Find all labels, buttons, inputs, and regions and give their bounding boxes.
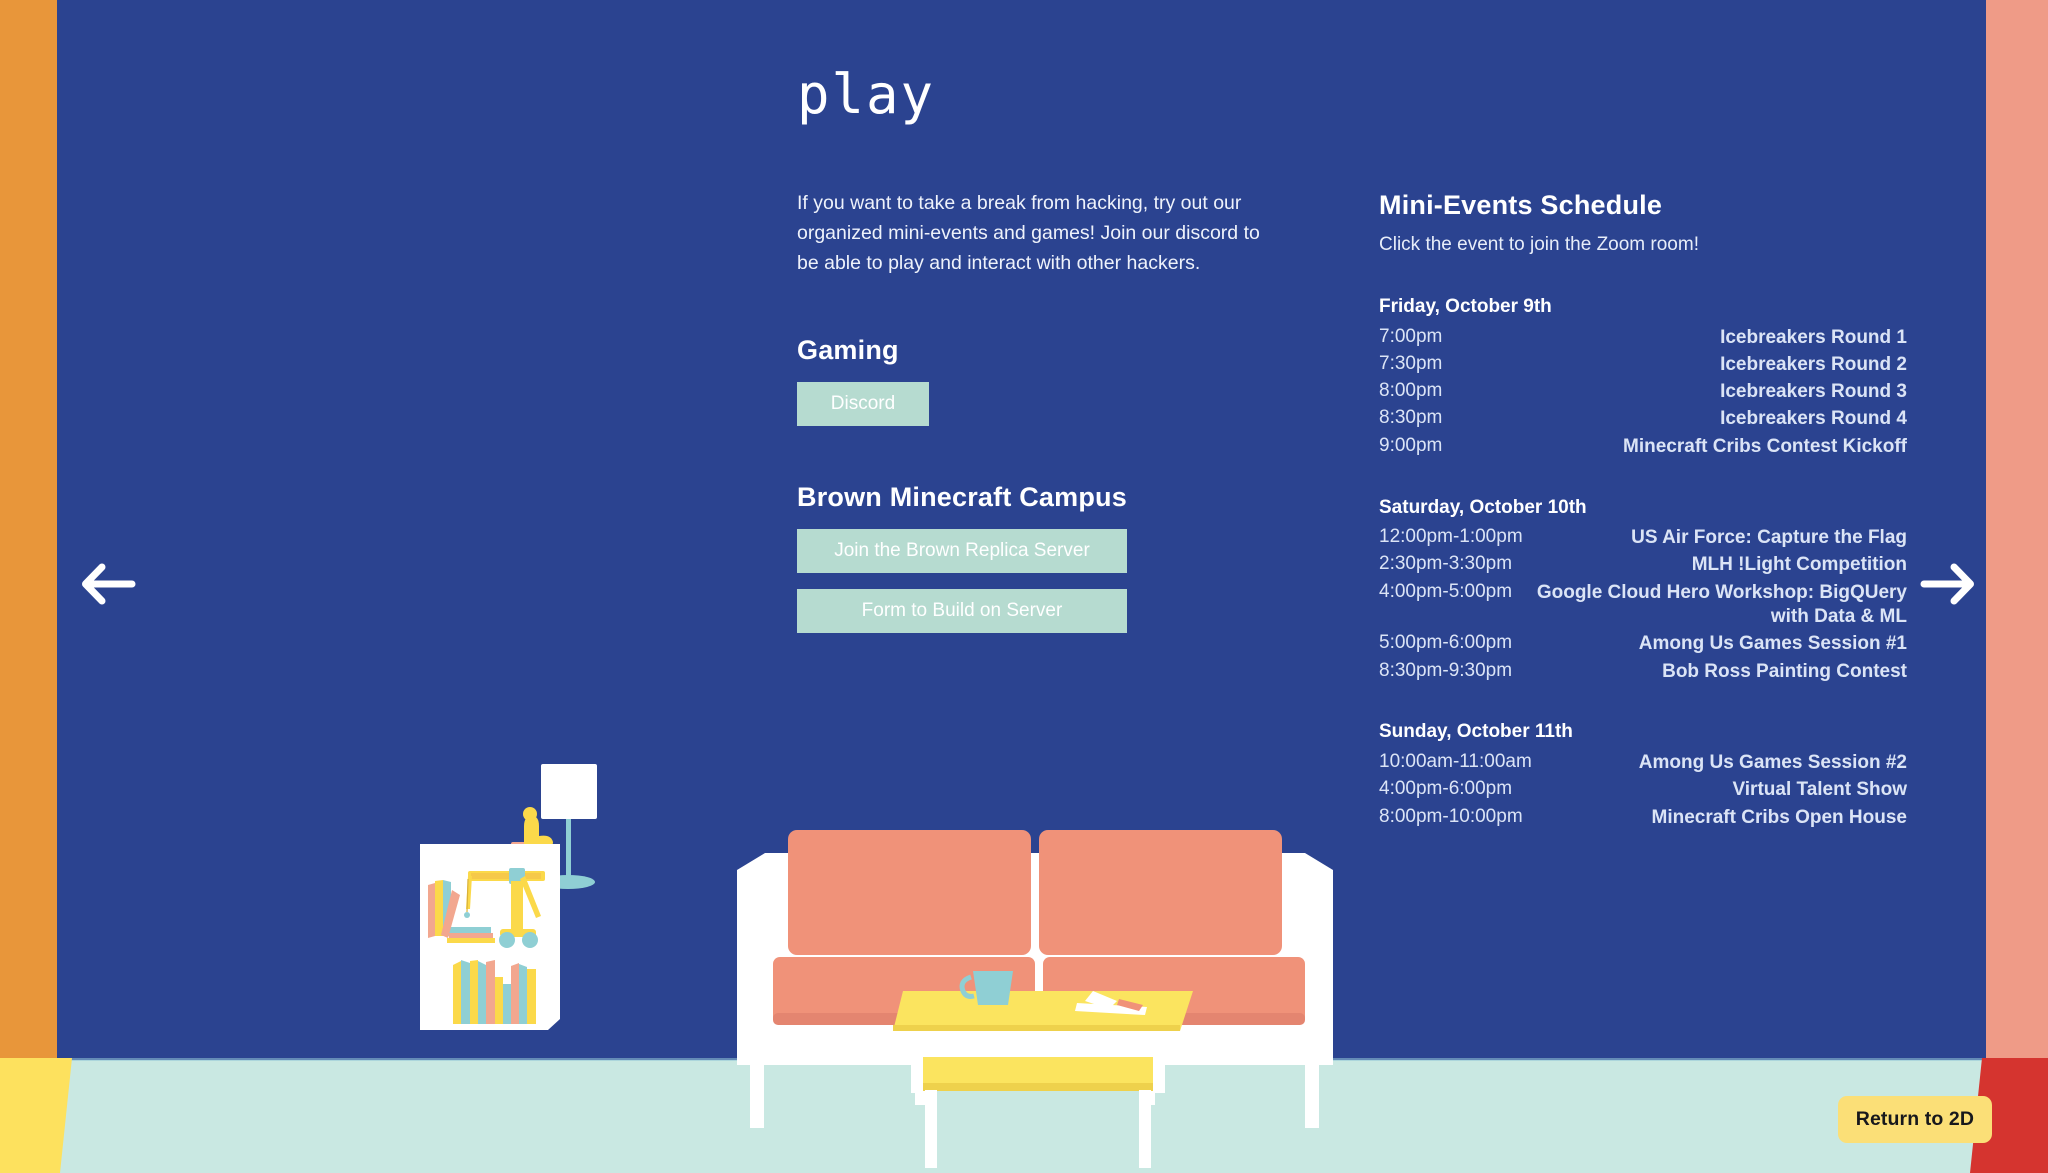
schedule-event-row[interactable]: 7:30pm Icebreakers Round 2 — [1379, 351, 1907, 378]
schedule-event-row[interactable]: 2:30pm-3:30pm MLH !Light Competition — [1379, 552, 1907, 579]
event-time: 8:30pm — [1379, 407, 1442, 429]
schedule-title: Mini-Events Schedule — [1379, 190, 1907, 221]
schedule-event-row[interactable]: 12:00pm-1:00pm US Air Force: Capture the… — [1379, 525, 1907, 552]
schedule-event-row[interactable]: 7:00pm Icebreakers Round 1 — [1379, 324, 1907, 351]
day-block-sunday: Sunday, October 11th 10:00am-11:00am Amo… — [1379, 721, 1907, 831]
schedule-event-row[interactable]: 8:30pm Icebreakers Round 4 — [1379, 406, 1907, 433]
event-name: US Air Force: Capture the Flag — [1541, 526, 1907, 550]
section-heading-gaming: Gaming — [797, 335, 1287, 366]
event-name: Google Cloud Hero Workshop: BigQUery wit… — [1530, 581, 1907, 630]
join-replica-server-button[interactable]: Join the Brown Replica Server — [797, 529, 1127, 573]
discord-button[interactable]: Discord — [797, 382, 929, 426]
schedule-event-row[interactable]: 8:30pm-9:30pm Bob Ross Painting Contest — [1379, 658, 1907, 685]
event-name: Among Us Games Session #1 — [1530, 632, 1907, 656]
event-time: 8:00pm — [1379, 380, 1442, 402]
event-time: 10:00am-11:00am — [1379, 751, 1532, 773]
return-to-2d-button[interactable]: Return to 2D — [1838, 1096, 1992, 1143]
intro-paragraph: If you want to take a break from hacking… — [797, 188, 1277, 279]
event-time: 8:00pm-10:00pm — [1379, 806, 1523, 828]
schedule-event-row[interactable]: 8:00pm-10:00pm Minecraft Cribs Open Hous… — [1379, 804, 1907, 831]
page-content: play If you want to take a break from ha… — [0, 0, 2048, 1173]
event-time: 4:00pm-6:00pm — [1379, 778, 1512, 800]
day-name: Sunday, October 11th — [1379, 721, 1907, 743]
event-time: 8:30pm-9:30pm — [1379, 660, 1512, 682]
event-name: Virtual Talent Show — [1530, 778, 1907, 802]
event-time: 9:00pm — [1379, 435, 1442, 457]
left-column: If you want to take a break from hacking… — [797, 188, 1287, 633]
event-time: 7:00pm — [1379, 326, 1442, 348]
section-heading-minecraft: Brown Minecraft Campus — [797, 482, 1287, 513]
event-name: Icebreakers Round 4 — [1460, 407, 1907, 431]
schedule-column: Mini-Events Schedule Click the event to … — [1379, 190, 1907, 831]
event-name: MLH !Light Competition — [1530, 553, 1907, 577]
arrow-right-icon — [1920, 560, 1976, 608]
next-room-arrow[interactable] — [1920, 560, 1976, 608]
day-name: Saturday, October 10th — [1379, 497, 1907, 519]
event-time: 7:30pm — [1379, 353, 1442, 375]
schedule-event-row[interactable]: 10:00am-11:00am Among Us Games Session #… — [1379, 749, 1907, 776]
event-name: Icebreakers Round 2 — [1460, 353, 1907, 377]
arrow-left-icon — [80, 560, 136, 608]
event-name: Among Us Games Session #2 — [1550, 751, 1907, 775]
day-name: Friday, October 9th — [1379, 296, 1907, 318]
schedule-event-row[interactable]: 4:00pm-6:00pm Virtual Talent Show — [1379, 777, 1907, 804]
event-name: Minecraft Cribs Open House — [1541, 806, 1907, 830]
event-name: Icebreakers Round 3 — [1460, 380, 1907, 404]
event-time: 4:00pm-5:00pm — [1379, 581, 1512, 603]
event-time: 5:00pm-6:00pm — [1379, 632, 1512, 654]
schedule-event-row[interactable]: 9:00pm Minecraft Cribs Contest Kickoff — [1379, 433, 1907, 460]
schedule-event-row[interactable]: 5:00pm-6:00pm Among Us Games Session #1 — [1379, 631, 1907, 658]
event-name: Bob Ross Painting Contest — [1530, 660, 1907, 684]
build-on-server-form-button[interactable]: Form to Build on Server — [797, 589, 1127, 633]
day-block-friday: Friday, October 9th 7:00pm Icebreakers R… — [1379, 296, 1907, 461]
event-name: Icebreakers Round 1 — [1460, 326, 1907, 350]
event-time: 12:00pm-1:00pm — [1379, 526, 1523, 548]
event-name: Minecraft Cribs Contest Kickoff — [1460, 435, 1907, 459]
schedule-subtitle: Click the event to join the Zoom room! — [1379, 234, 1907, 256]
schedule-event-row[interactable]: 8:00pm Icebreakers Round 3 — [1379, 379, 1907, 406]
previous-room-arrow[interactable] — [80, 560, 136, 608]
event-time: 2:30pm-3:30pm — [1379, 553, 1512, 575]
day-block-saturday: Saturday, October 10th 12:00pm-1:00pm US… — [1379, 497, 1907, 686]
page-title: play — [797, 68, 935, 122]
schedule-event-row[interactable]: 4:00pm-5:00pm Google Cloud Hero Workshop… — [1379, 579, 1907, 631]
